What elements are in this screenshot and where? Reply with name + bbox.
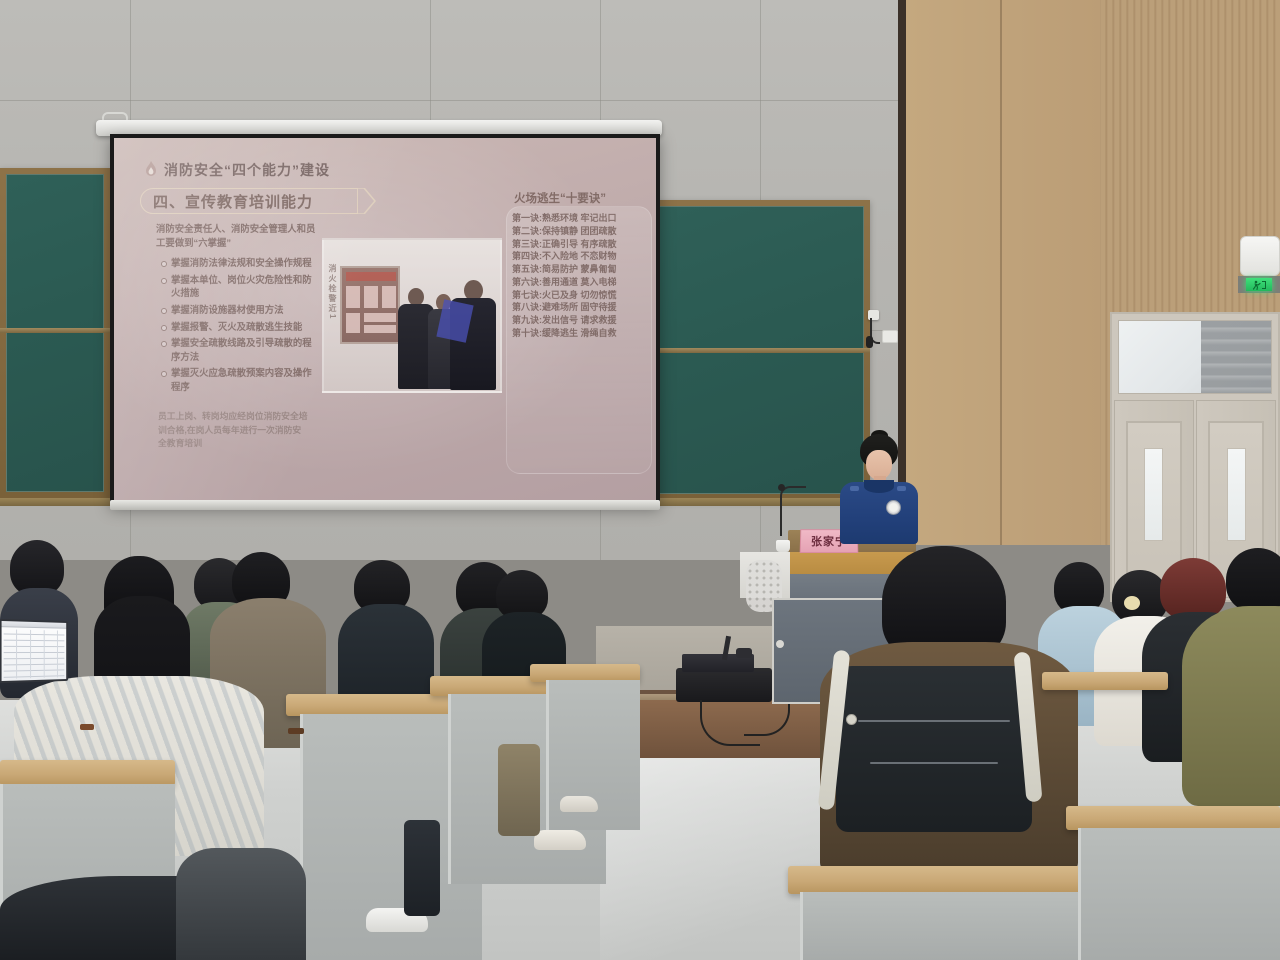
- wood-panel-left: [905, 0, 1100, 545]
- photo-notice-board: [340, 266, 400, 344]
- slide-section-banner: 四、宣传教育培训能力: [140, 188, 358, 214]
- slide-escape-tips-list: 第一诀:熟悉环境 牢记出口 第二诀:保持镇静 团团疏散 第三诀:正确引导 有序疏…: [512, 212, 648, 340]
- camera-lens-icon: [866, 336, 873, 348]
- desk: [1042, 672, 1168, 690]
- escape-tip: 第九诀:发出信号 请求救援: [512, 314, 648, 327]
- slide-header: 消防安全“四个能力”建设: [144, 160, 330, 180]
- desk: [0, 760, 175, 786]
- phone-on-desk[interactable]: [80, 724, 94, 730]
- slide-bullet: 掌握报警、灭火及疏散逃生技能: [160, 320, 318, 334]
- flame-icon: [144, 161, 158, 179]
- escape-tip: 第四诀:不入险地 不恋财物: [512, 250, 648, 263]
- chalk-tray-left: [0, 498, 110, 506]
- presenter-badge: [886, 500, 901, 515]
- escape-tip: 第五诀:简易防护 蒙鼻匍匐: [512, 263, 648, 276]
- projection-screen: 消防安全“四个能力”建设 四、宣传教育培训能力 消防安全责任人、消防安全管理人和…: [110, 134, 660, 506]
- desk: [788, 866, 1108, 894]
- microphone-icon: [778, 484, 785, 491]
- escape-tip: 第二诀:保持镇静 团团疏散: [512, 225, 648, 238]
- slide-bullet: 掌握本单位、岗位火灾危险性和防火措施: [160, 273, 318, 300]
- screen-bottom-weight-bar: [110, 500, 660, 510]
- podium-knob[interactable]: [776, 640, 784, 648]
- exit-running-man-icon: [1246, 278, 1272, 291]
- desk-front-panel: [800, 892, 1108, 960]
- slide-section-text: 四、宣传教育培训能力: [153, 191, 313, 212]
- slide-photo: 消火栓警近1: [322, 238, 502, 393]
- desk-front-panel: [1078, 828, 1280, 960]
- exit-sign: [1238, 276, 1280, 293]
- slide-right-title: 火场逃生“十要诀”: [514, 190, 650, 206]
- slide-footnote: 员工上岗、转岗均应经岗位消防安全培训合格,在岗人员每年进行一次消防安全教育培训: [158, 410, 308, 451]
- leg: [498, 744, 540, 836]
- desk: [1066, 806, 1280, 830]
- leg: [404, 820, 440, 916]
- slide-photo-caption: 消火栓警近1: [327, 264, 338, 320]
- emergency-light-box: [1240, 236, 1280, 276]
- slide-bullet: 掌握安全疏散线路及引导疏散的程序方法: [160, 336, 318, 363]
- slide-intro-text: 消防安全责任人、消防安全管理人和员工要做到“六掌握”: [156, 222, 316, 250]
- blackboard-left: [0, 168, 110, 498]
- escape-tip: 第六诀:善用通道 莫入电梯: [512, 276, 648, 289]
- banner-arrow-icon: [350, 188, 376, 214]
- av-equipment: [676, 668, 772, 702]
- presenter-collar: [864, 480, 894, 493]
- slide-header-text: 消防安全“四个能力”建设: [164, 160, 330, 180]
- escape-tip: 第三诀:正确引导 有序疏散: [512, 238, 648, 251]
- slide-bullet: 掌握灭火应急疏散预案内容及操作程序: [160, 366, 318, 393]
- cable-connector: [736, 648, 752, 658]
- screen-mount-hook: [102, 112, 128, 120]
- presenter-epaulet: [897, 486, 906, 491]
- laptop-screen[interactable]: [0, 619, 68, 683]
- wall-switch[interactable]: [882, 330, 898, 343]
- hair-clip: [1124, 596, 1140, 610]
- slide-bullet: 掌握消防设施器材使用方法: [160, 303, 318, 317]
- water-cup: [776, 540, 790, 552]
- slide-bullet-list: 掌握消防法律法规和安全操作规程 掌握本单位、岗位火灾危险性和防火措施 掌握消防设…: [160, 256, 318, 397]
- escape-tip: 第十诀:缓降逃生 滑绳自救: [512, 327, 648, 340]
- lecture-hall-scene: 消防安全“四个能力”建设 四、宣传教育培训能力 消防安全责任人、消防安全管理人和…: [0, 0, 1280, 960]
- presenter-epaulet: [850, 486, 859, 491]
- shoe: [560, 796, 598, 812]
- door-transom-window: [1118, 320, 1272, 394]
- foreground-person-silhouette: [176, 848, 306, 960]
- presenter: [836, 434, 920, 544]
- escape-tip: 第七诀:火已及身 切勿惊慌: [512, 289, 648, 302]
- slide-canvas: 消防安全“四个能力”建设 四、宣传教育培训能力 消防安全责任人、消防安全管理人和…: [114, 138, 656, 502]
- escape-tip: 第八诀:避难场所 固守待援: [512, 301, 648, 314]
- wood-panel-seam: [1000, 0, 1002, 545]
- shoe: [534, 830, 586, 850]
- escape-tip: 第一诀:熟悉环境 牢记出口: [512, 212, 648, 225]
- slide-bullet: 掌握消防法律法规和安全操作规程: [160, 256, 318, 270]
- backpack: [836, 666, 1032, 832]
- backpack-zipper-pull[interactable]: [846, 714, 857, 725]
- phone-on-desk[interactable]: [288, 728, 304, 734]
